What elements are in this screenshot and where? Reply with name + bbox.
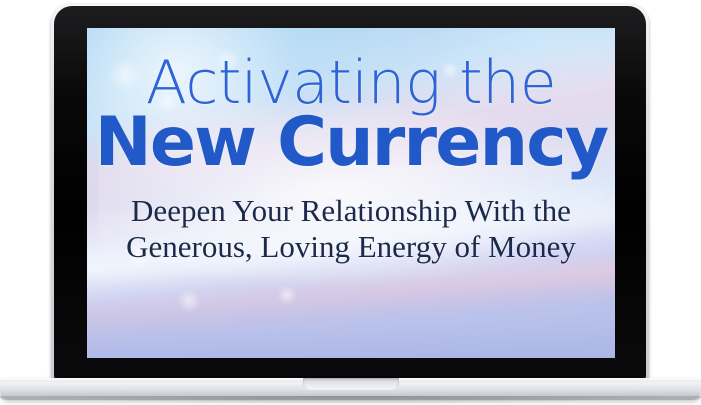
slide-subtitle-line-2: Generous, Loving Energy of Money [126,229,576,266]
slide-headline-line-2: New Currency [95,109,607,177]
slide-text-block: Activating the New Currency Deepen Your … [87,28,615,358]
laptop-drop-shadow [30,396,671,404]
laptop-screen: Activating the New Currency Deepen Your … [87,28,615,358]
laptop-mockup: Activating the New Currency Deepen Your … [0,0,701,405]
laptop-base-thumb-notch [303,378,399,390]
screenshot-stage: Activating the New Currency Deepen Your … [0,0,701,405]
slide-subtitle-line-1: Deepen Your Relationship With the [131,193,571,230]
